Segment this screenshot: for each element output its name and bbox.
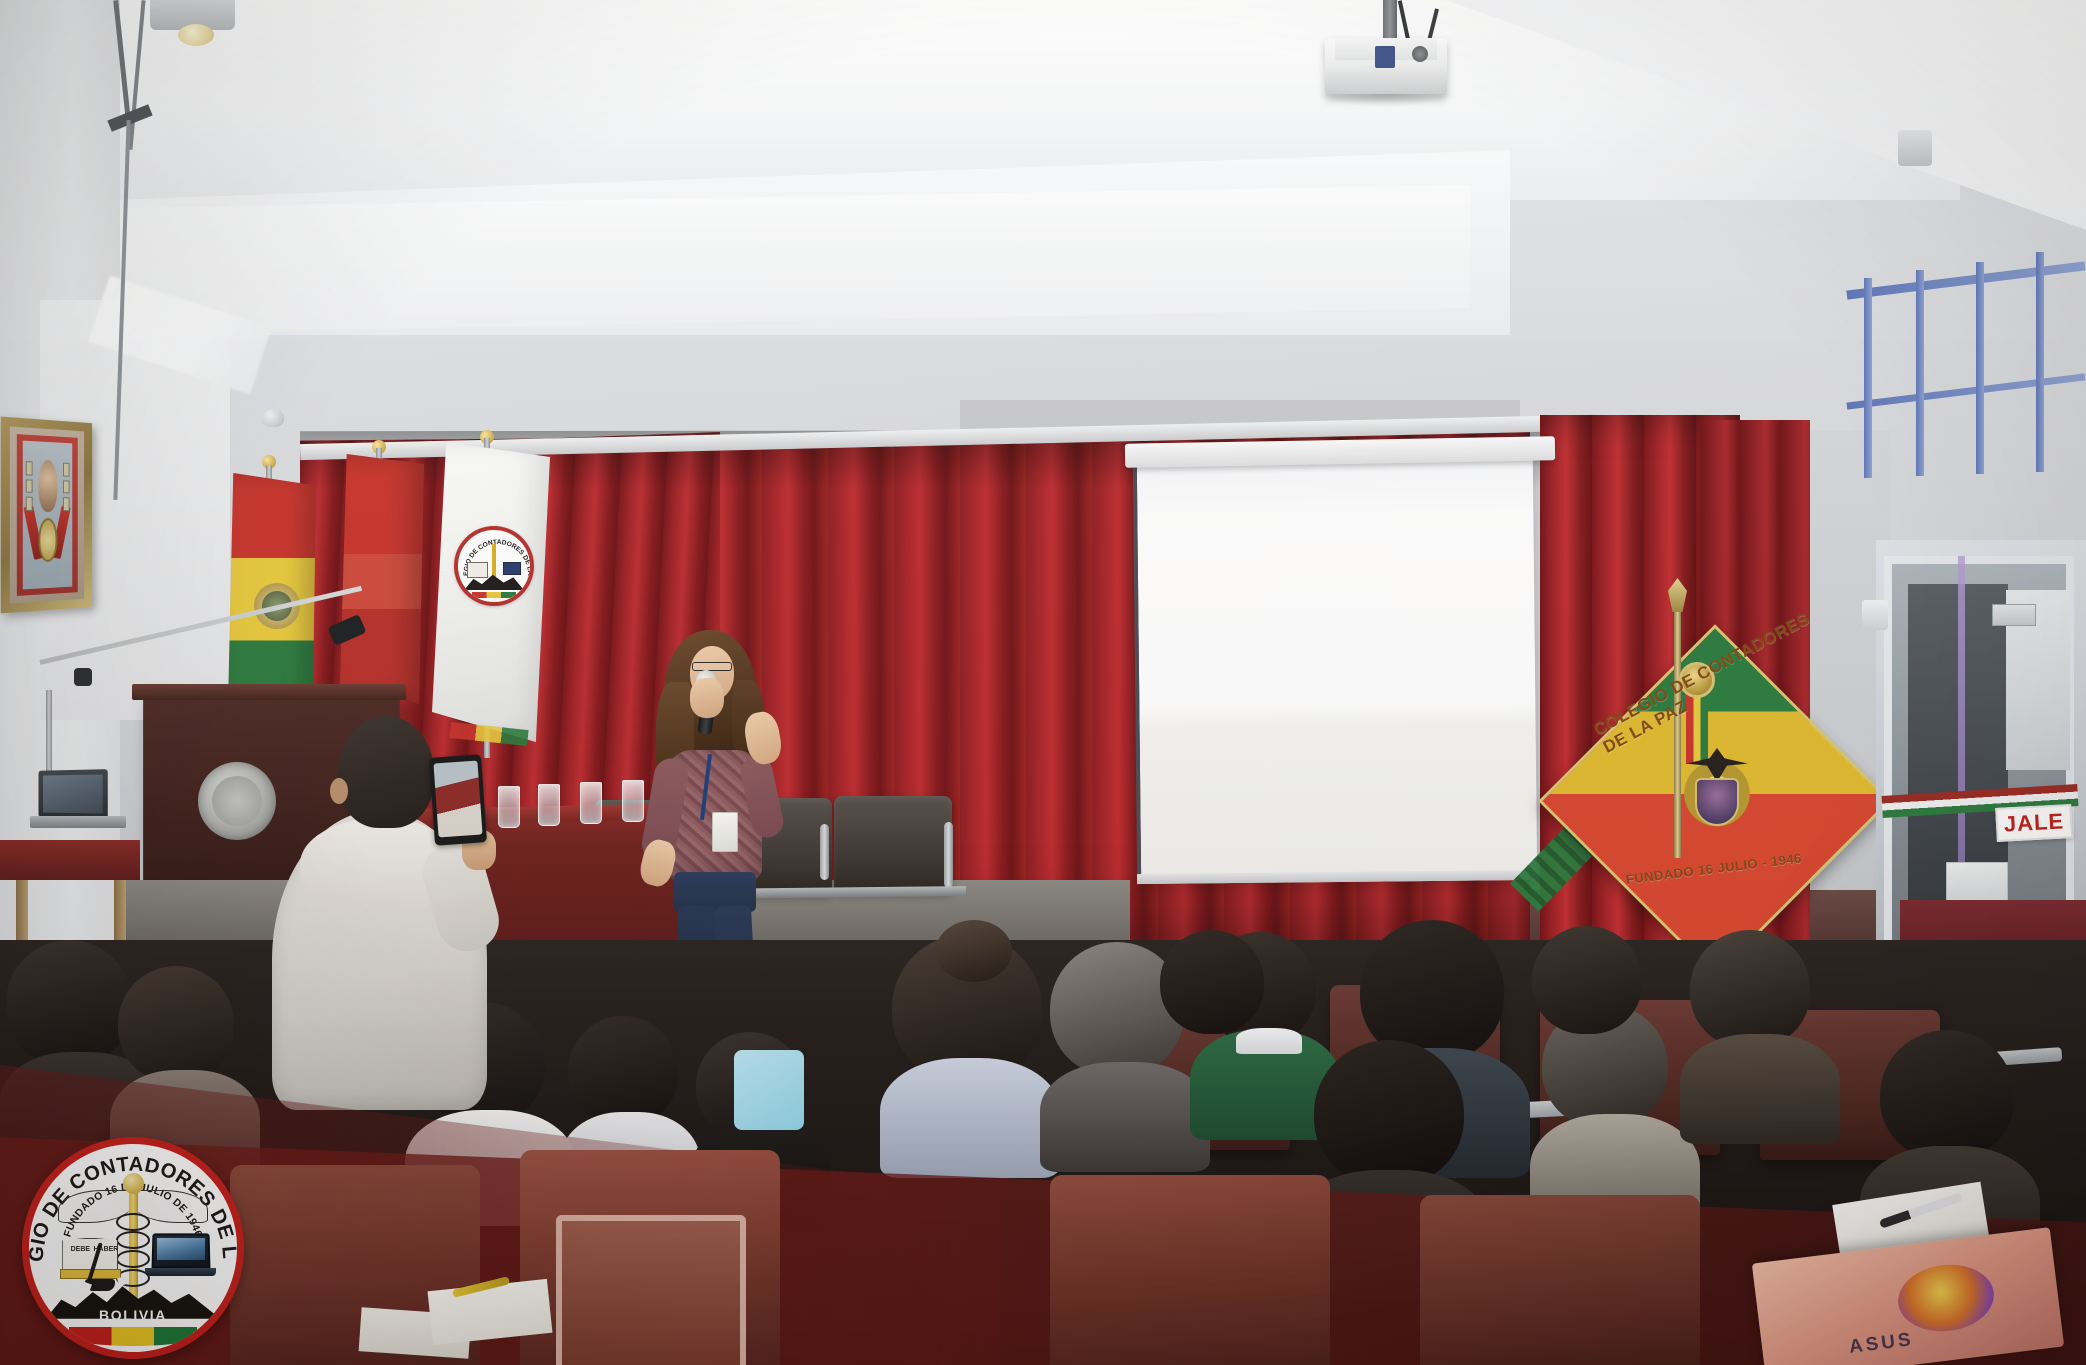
jale-sign-label: JALE <box>2003 808 2065 837</box>
audience-shoulders <box>1680 1034 1840 1144</box>
projector-lens-icon <box>1412 46 1428 62</box>
stage-seat-armrest <box>944 822 953 888</box>
glasses-icon <box>692 662 732 671</box>
logo-snake-coil <box>116 1250 150 1268</box>
flag-stand-institution: COLEGIO DE CONTADORES DE LA PAZ <box>432 430 562 760</box>
front-row-chair-panel <box>556 1215 746 1365</box>
logo-snow-cap <box>155 1284 164 1293</box>
portrait-decor-box <box>63 463 69 476</box>
projector-shadow <box>1320 94 1452 106</box>
audience-member-bun <box>880 920 1060 1150</box>
portrait-decor-box <box>26 462 33 476</box>
hair-bun <box>936 920 1012 982</box>
id-badge <box>712 812 738 852</box>
wall-sensor-icon <box>1862 600 1888 630</box>
seal-laptop <box>503 562 522 575</box>
stage-seat <box>834 796 952 892</box>
logo-laptop-base <box>145 1268 216 1276</box>
laptop-screen <box>43 774 103 813</box>
portrait-decor-box <box>63 498 69 511</box>
railing-mid-bar <box>1846 373 2085 409</box>
institution-seal-on-flag: COLEGIO DE CONTADORES DE LA PAZ <box>454 526 534 606</box>
seal-tricolor <box>472 592 515 598</box>
audience-head <box>1314 1040 1464 1186</box>
drinking-glass <box>538 784 560 826</box>
audience-head <box>1880 1030 2014 1160</box>
photo-canvas: COLEGIO DE CONTADORES DE LA PAZ <box>0 0 2086 1365</box>
audience-head <box>1160 930 1264 1034</box>
audience-head <box>118 966 234 1082</box>
audience-member <box>1150 930 1290 1110</box>
banner-shield-icon <box>1695 778 1739 826</box>
seal-book <box>467 562 487 578</box>
person-filming-head <box>338 716 434 828</box>
smartphone-screen <box>433 761 482 838</box>
portrait-decor-box <box>63 480 69 493</box>
railing-post <box>2036 252 2044 472</box>
drinking-glass <box>580 782 602 824</box>
wall-notice <box>1992 604 2036 626</box>
projector-vga-connector <box>1375 46 1395 68</box>
railing-post <box>1976 262 1984 474</box>
portrait-decor-box <box>26 479 33 492</box>
presenter-hand-holding-mic <box>690 678 724 718</box>
stage-seat-armrest <box>820 824 829 880</box>
logo-country-label: BOLIVIA <box>29 1307 237 1323</box>
front-row-chair <box>1420 1195 1700 1365</box>
audience-head <box>1532 926 1642 1034</box>
projection-screen <box>1133 460 1537 884</box>
railing-top-bar <box>1846 261 2085 299</box>
railing-post <box>1864 278 1872 478</box>
laptop-base <box>30 816 126 828</box>
person-filming-ear <box>330 778 348 804</box>
side-table <box>0 840 140 880</box>
drinking-glass <box>498 786 520 828</box>
podium-emblem-inner <box>212 776 262 826</box>
framed-portrait <box>1 417 92 614</box>
jale-door-sign: JALE <box>1995 804 2073 842</box>
railing-post <box>1916 270 1924 476</box>
audience-member <box>1522 926 1672 1096</box>
logo-outer-ring: COLEGIO DE CONTADORES DE LA PAZ FUNDADO … <box>22 1137 244 1359</box>
light-bulb-icon <box>178 24 214 46</box>
audience-head <box>568 1016 678 1126</box>
microphone-clamp <box>74 668 92 686</box>
logo-book-label-debe: DEBE <box>71 1246 90 1253</box>
portrait-decor-box <box>26 497 33 510</box>
logo-caduceus-knob <box>123 1173 144 1194</box>
portrait-artwork <box>23 441 72 590</box>
audience-member <box>1680 930 1840 1130</box>
logo-laptop-screen <box>157 1238 205 1261</box>
front-row-chair <box>1050 1175 1330 1365</box>
logo-tricolor-banner <box>69 1327 198 1346</box>
wall-speaker <box>1898 130 1932 166</box>
logo-snake-coil <box>116 1213 150 1231</box>
portrait-mat <box>17 434 78 596</box>
portrait-figure <box>38 459 58 512</box>
patterned-scarf <box>734 1050 804 1130</box>
institution-watermark-logo: COLEGIO DE CONTADORES DE LA PAZ FUNDADO … <box>22 1137 244 1359</box>
audience-head <box>1690 930 1810 1048</box>
mezzanine-railing <box>1846 182 2086 482</box>
podium-top-surface <box>132 684 406 700</box>
audience-shoulders <box>880 1058 1060 1178</box>
security-camera-icon <box>262 409 284 427</box>
portrait-inner-frame <box>10 426 84 603</box>
red-flag <box>340 454 424 704</box>
